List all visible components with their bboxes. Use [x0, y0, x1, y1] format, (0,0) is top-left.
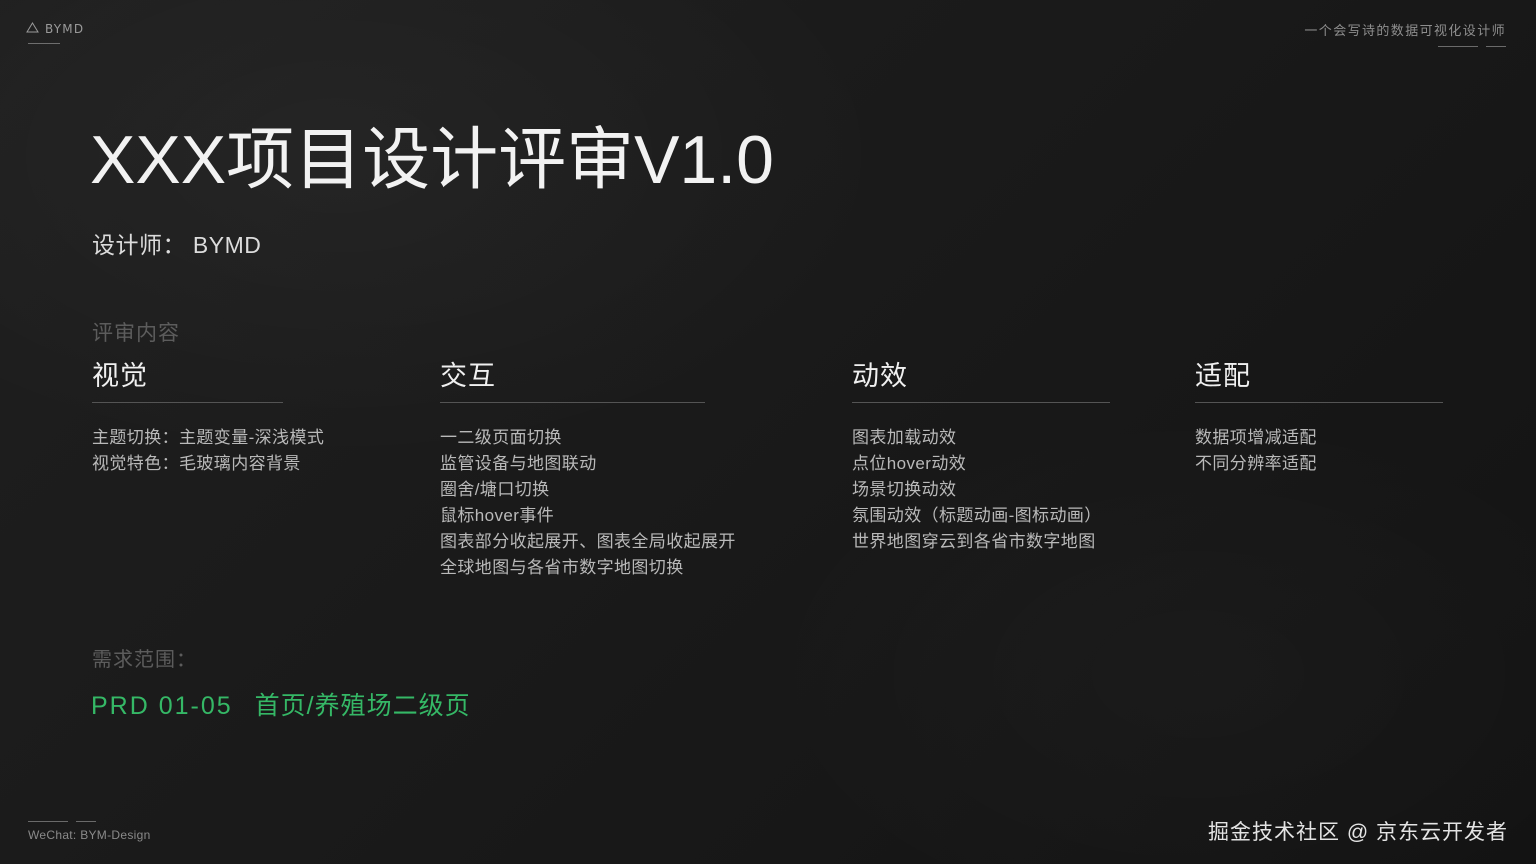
list-item: 场景切换动效	[852, 477, 1195, 503]
column-heading: 动效	[852, 362, 1195, 392]
tagline-text: 一个会写诗的数据可视化设计师	[1304, 20, 1506, 39]
triangle-icon	[26, 20, 39, 38]
review-column-visual: 视觉 主题切换：主题变量-深浅模式 视觉特色：毛玻璃内容背景	[92, 362, 440, 592]
footer-rule-long	[28, 821, 68, 822]
list-item: 数据项增减适配	[1195, 425, 1444, 451]
page-title: XXX项目设计评审V1.0	[90, 126, 774, 194]
tagline-rule-short	[1486, 46, 1506, 47]
list-item: 不同分辨率适配	[1195, 451, 1444, 477]
review-section-label: 评审内容	[92, 317, 180, 347]
footer-credit: 掘金技术社区 @ 京东云开发者	[1208, 816, 1508, 846]
tagline-rules	[1438, 46, 1506, 47]
column-divider	[440, 402, 705, 403]
list-item: 鼠标hover事件	[440, 503, 852, 529]
list-item: 监管设备与地图联动	[440, 451, 852, 477]
review-column-interaction: 交互 一二级页面切换 监管设备与地图联动 圈舍/塘口切换 鼠标hover事件 图…	[440, 362, 852, 592]
review-columns: 视觉 主题切换：主题变量-深浅模式 视觉特色：毛玻璃内容背景 交互 一二级页面切…	[92, 362, 1444, 592]
column-item-list: 主题切换：主题变量-深浅模式 视觉特色：毛玻璃内容背景	[92, 425, 440, 477]
scope-prd-code: PRD 01-05	[91, 692, 233, 721]
scope-value: PRD 01-05 首页/养殖场二级页	[91, 686, 471, 722]
column-item-list: 图表加载动效 点位hover动效 场景切换动效 氛围动效（标题动画-图标动画） …	[852, 425, 1195, 555]
tagline-rule-long	[1438, 46, 1478, 47]
column-divider	[852, 402, 1110, 403]
column-heading: 交互	[440, 362, 852, 392]
scope-label: 需求范围：	[92, 643, 197, 672]
logo-underline	[28, 43, 60, 44]
brand-logo[interactable]: BYMD	[26, 20, 84, 44]
column-heading: 适配	[1195, 362, 1444, 392]
review-column-adaptation: 适配 数据项增减适配 不同分辨率适配	[1195, 362, 1444, 592]
list-item: 世界地图穿云到各省市数字地图	[852, 529, 1195, 555]
list-item: 全球地图与各省市数字地图切换	[440, 555, 852, 581]
scope-pages: 首页/养殖场二级页	[255, 686, 471, 722]
review-column-animation: 动效 图表加载动效 点位hover动效 场景切换动效 氛围动效（标题动画-图标动…	[852, 362, 1195, 592]
column-divider	[92, 402, 283, 403]
wechat-handle: WeChat: BYM-Design	[28, 828, 151, 842]
designer-line: 设计师： BYMD	[92, 226, 261, 260]
header-tagline-block: 一个会写诗的数据可视化设计师	[1304, 20, 1506, 47]
list-item: 图表部分收起展开、图表全局收起展开	[440, 529, 852, 555]
list-item: 点位hover动效	[852, 451, 1195, 477]
column-divider	[1195, 402, 1443, 403]
list-item: 图表加载动效	[852, 425, 1195, 451]
logo-row: BYMD	[26, 20, 84, 38]
footer-rules	[28, 821, 151, 822]
logo-text: BYMD	[45, 22, 84, 36]
list-item: 圈舍/塘口切换	[440, 477, 852, 503]
column-item-list: 一二级页面切换 监管设备与地图联动 圈舍/塘口切换 鼠标hover事件 图表部分…	[440, 425, 852, 581]
list-item: 一二级页面切换	[440, 425, 852, 451]
column-heading: 视觉	[92, 362, 440, 392]
list-item: 视觉特色：毛玻璃内容背景	[92, 451, 440, 477]
list-item: 氛围动效（标题动画-图标动画）	[852, 503, 1195, 529]
presentation-slide: BYMD 一个会写诗的数据可视化设计师 XXX项目设计评审V1.0 设计师： B…	[0, 0, 1536, 864]
footer-rule-short	[76, 821, 96, 822]
list-item: 主题切换：主题变量-深浅模式	[92, 425, 440, 451]
footer-contact: WeChat: BYM-Design	[28, 821, 151, 842]
column-item-list: 数据项增减适配 不同分辨率适配	[1195, 425, 1444, 477]
